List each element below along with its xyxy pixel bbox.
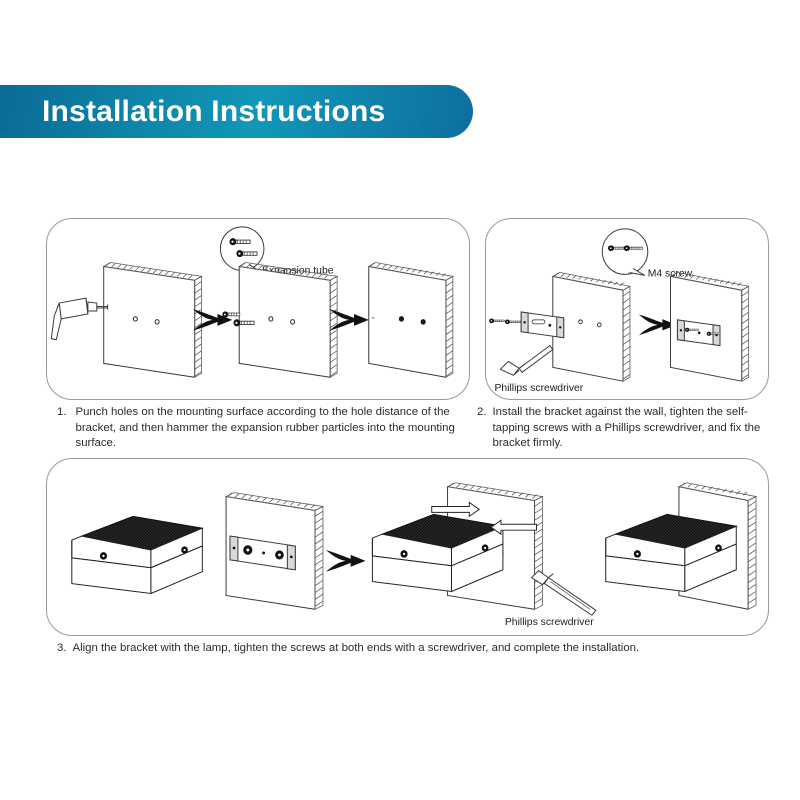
screwdriver-icon: [532, 571, 596, 615]
wall-panel-icon: [239, 263, 337, 378]
m4-screw-icon: [505, 320, 520, 325]
flow-arrow-icon: [329, 309, 369, 331]
stage-align-lamp: [72, 493, 323, 610]
stage-attach-bracket: [489, 272, 630, 381]
screwdriver-icon: [500, 346, 552, 376]
m4-screw-icon: [489, 319, 504, 324]
wall-panel-icon: [369, 263, 453, 378]
wall-panel-icon: [553, 272, 630, 381]
step-2-text: Install the bracket against the wall, ti…: [493, 405, 773, 452]
stage-push-lamp: [372, 483, 595, 615]
stage-tubes-installed: [369, 263, 453, 378]
step-3-text: Align the bracket with the lamp, tighten…: [73, 641, 758, 657]
step-3-caption: 3. Align the bracket with the lamp, tigh…: [57, 641, 757, 657]
m4-screw-callout: [602, 229, 647, 275]
page-title: Installation Instructions: [0, 97, 385, 127]
stage-drill: [51, 263, 201, 378]
flow-arrow-icon: [326, 550, 366, 572]
page-header-banner: Installation Instructions: [0, 85, 473, 138]
step-2-number: 2.: [477, 405, 487, 452]
step-3-number: 3.: [57, 641, 67, 657]
lamp-fixture-icon: [72, 516, 203, 593]
step-1-diagram-panel: Expansion tube: [46, 218, 470, 400]
stage-installed-lamp: [606, 483, 756, 610]
drill-icon: [51, 298, 107, 340]
wall-panel-icon: [104, 263, 202, 378]
stage-bracket-installed: [671, 272, 749, 381]
step-2-caption: 2. Install the bracket against the wall,…: [477, 405, 772, 452]
expansion-tube-icon: [222, 311, 239, 317]
stage-insert-tubes: [222, 263, 337, 378]
step-1-number: 1.: [57, 405, 67, 452]
step-3-diagram-panel: Phillips screwdriver: [46, 458, 769, 636]
step-2-diagram-panel: M4 screw: [485, 218, 769, 400]
step-1-text: Punch holes on the mounting surface acco…: [76, 405, 478, 452]
phillips-screwdriver-label: Phillips screwdriver: [505, 617, 594, 628]
step-1-caption: 1. Punch holes on the mounting surface a…: [57, 405, 477, 452]
phillips-screwdriver-label: Phillips screwdriver: [494, 383, 583, 394]
